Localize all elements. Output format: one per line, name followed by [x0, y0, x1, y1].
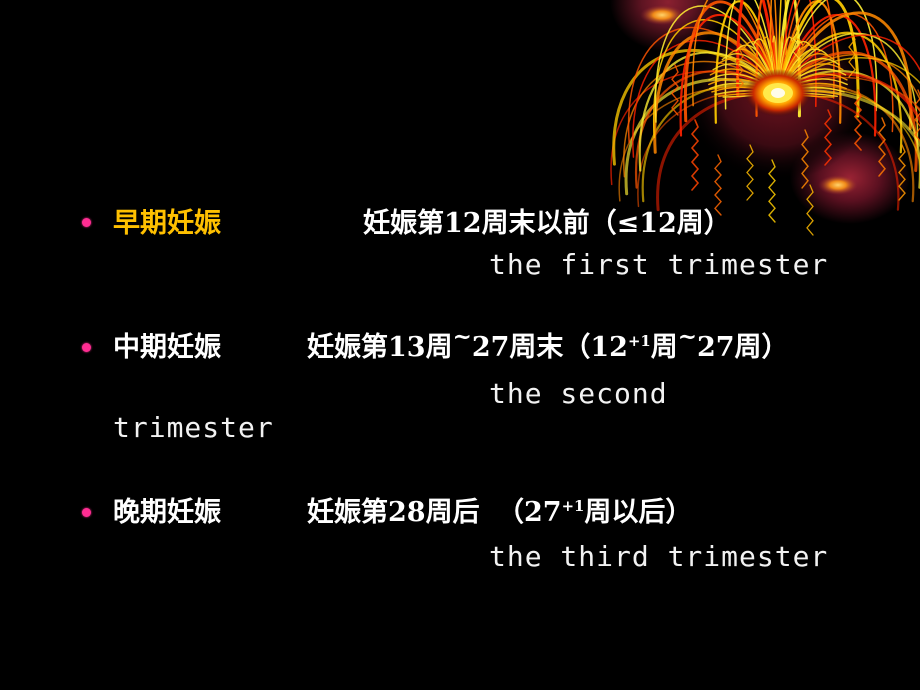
term-late-pregnancy: 晚期妊娠: [113, 499, 221, 526]
english-second-trimester-line1: the second: [489, 380, 668, 408]
english-third-trimester: the third trimester: [489, 543, 828, 571]
slide-content: 早期妊娠 妊娠第12周末以前（≤12周） the first trimester…: [0, 0, 920, 690]
english-second-trimester-line2: trimester: [113, 414, 274, 442]
english-first-trimester: the first trimester: [489, 251, 828, 279]
bullet-dot: [82, 508, 91, 517]
term-early-pregnancy: 早期妊娠: [113, 210, 221, 237]
definition-early-pregnancy: 妊娠第12周末以前（≤12周）: [363, 210, 731, 237]
bullet-dot: [82, 218, 91, 227]
slide-canvas: 早期妊娠 妊娠第12周末以前（≤12周） the first trimester…: [0, 0, 920, 690]
definition-late-pregnancy: 妊娠第28周后 （27+1周以后）: [307, 499, 692, 526]
bullet-dot: [82, 343, 91, 352]
definition-mid-pregnancy: 妊娠第13周~27周末（12+1周~27周）: [307, 334, 789, 361]
term-mid-pregnancy: 中期妊娠: [113, 334, 221, 361]
